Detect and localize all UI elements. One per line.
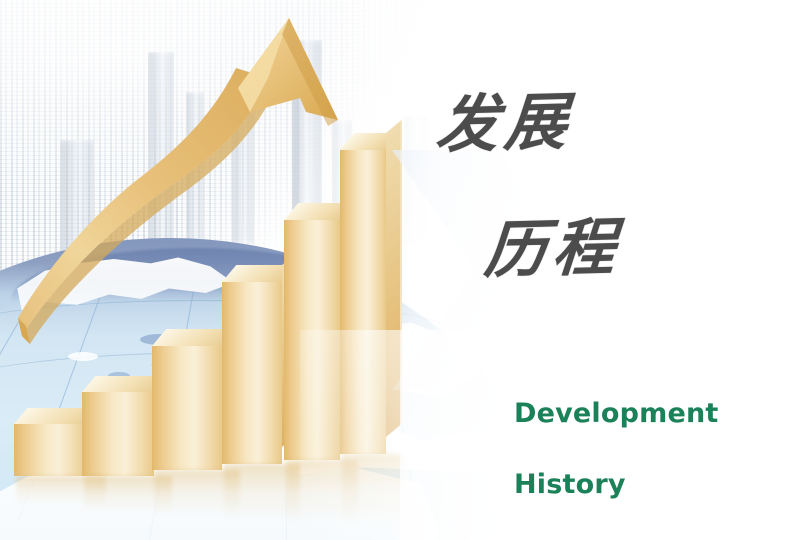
english-title-line1: Development [514, 396, 772, 432]
chart-bar [222, 282, 282, 464]
title-block: 发展 历程 Development History [432, 26, 772, 538]
city-tower [148, 52, 174, 242]
landmass-speck [68, 352, 98, 361]
city-tower [186, 92, 204, 242]
english-title: Development History [514, 360, 772, 538]
chart-bar [82, 392, 154, 476]
chinese-title-line2: 历程 [482, 211, 770, 282]
bar-reflection [224, 464, 300, 528]
city-tower [60, 140, 94, 258]
chinese-title: 发展 历程 [419, 22, 785, 347]
bar-reflection [342, 454, 404, 534]
city-tower [232, 112, 254, 244]
chart-bar [284, 220, 340, 460]
chinese-title-line1: 发展 [434, 85, 780, 157]
city-tower [404, 116, 428, 246]
chart-bar [14, 424, 88, 476]
chart-bar-tallest [340, 150, 386, 454]
bar-reflection [286, 460, 358, 532]
landmass-scandinavia [8, 256, 238, 330]
chart-bar [152, 346, 222, 470]
development-history-banner: 发展 历程 Development History [0, 0, 800, 540]
bar-reflection [84, 476, 172, 518]
bar-reflection [16, 476, 106, 510]
english-title-line2: History [514, 467, 772, 503]
bar-reflection [154, 470, 240, 522]
